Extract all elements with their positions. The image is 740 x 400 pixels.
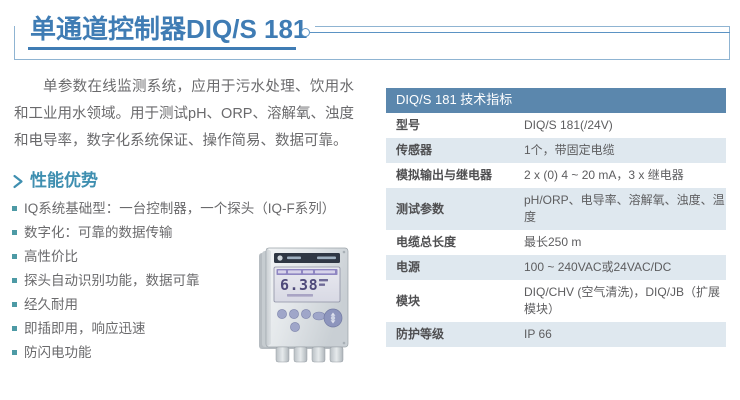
list-item: IQ系统基础型：一台控制器，一个探头（IQ-F系列） [12, 197, 372, 221]
svg-text:6.38: 6.38 [280, 276, 318, 294]
spec-key: 防护等级 [386, 322, 514, 347]
title-underline [28, 47, 296, 50]
list-item-label: 防闪电功能 [24, 341, 92, 365]
spec-value: DIQ/S 181(/24V) [514, 113, 726, 138]
spec-value: pH/ORP、电导率、溶解氧、浊度、温度 [514, 188, 726, 230]
spec-value: 2 x (0) 4 ~ 20 mA，3 x 继电器 [514, 163, 726, 188]
table-row: 电源 100 ~ 240VAC或24VAC/DC [386, 255, 726, 280]
list-item-label: 经久耐用 [24, 293, 78, 317]
bullet-square-icon [12, 278, 17, 283]
title-circle-marker-icon [301, 28, 310, 37]
spec-key: 传感器 [386, 138, 514, 163]
bullet-square-icon [12, 254, 17, 259]
bullet-square-icon [12, 302, 17, 307]
page-header: 单通道控制器DIQ/S 181 [0, 0, 740, 72]
list-item-label: IQ系统基础型：一台控制器，一个探头（IQ-F系列） [24, 197, 335, 221]
page-title: 单通道控制器DIQ/S 181 [30, 13, 307, 45]
table-row: 模块 DIQ/CHV (空气清洗)，DIQ/JB（扩展模块） [386, 280, 726, 322]
benefits-heading-label: 性能优势 [30, 171, 98, 191]
chevron-right-icon [12, 174, 25, 189]
table-row: 型号 DIQ/S 181(/24V) [386, 113, 726, 138]
table-row: 防护等级 IP 66 [386, 322, 726, 347]
list-item-label: 高性价比 [24, 245, 78, 269]
spec-key: 电缆总长度 [386, 230, 514, 255]
spec-table-caption: DIQ/S 181 技术指标 [386, 88, 726, 113]
table-row: 电缆总长度 最长250 m [386, 230, 726, 255]
list-item-label: 即插即用，响应迅速 [24, 317, 146, 341]
spec-value: IP 66 [514, 322, 726, 347]
benefits-heading: 性能优势 [12, 171, 372, 191]
table-row: 传感器 1个，带固定电缆 [386, 138, 726, 163]
spec-value: DIQ/CHV (空气清洗)，DIQ/JB（扩展模块） [514, 280, 726, 322]
spec-table: DIQ/S 181 技术指标 型号 DIQ/S 181(/24V) 传感器 1个… [386, 88, 726, 347]
spec-value: 1个，带固定电缆 [514, 138, 726, 163]
spec-key: 型号 [386, 113, 514, 138]
list-item-label: 探头自动识别功能，数据可靠 [24, 269, 200, 293]
spec-key: 测试参数 [386, 188, 514, 230]
spec-value: 最长250 m [514, 230, 726, 255]
bullet-square-icon [12, 326, 17, 331]
bullet-square-icon [12, 350, 17, 355]
spec-key: 电源 [386, 255, 514, 280]
table-row: 测试参数 pH/ORP、电导率、溶解氧、浊度、温度 [386, 188, 726, 230]
table-row: 模拟输出与继电器 2 x (0) 4 ~ 20 mA，3 x 继电器 [386, 163, 726, 188]
list-item-label: 数字化：可靠的数据传输 [24, 221, 173, 245]
spec-value: 100 ~ 240VAC或24VAC/DC [514, 255, 726, 280]
spec-key: 模拟输出与继电器 [386, 163, 514, 188]
intro-paragraph: 单参数在线监测系统，应用于污水处理、饮用水和工业用水领域。用于测试pH、ORP、… [0, 74, 372, 155]
title-connector-line [310, 32, 730, 33]
product-image: 6.38 [247, 238, 365, 370]
bullet-square-icon [12, 206, 17, 211]
bullet-square-icon [12, 230, 17, 235]
spec-key: 模块 [386, 280, 514, 322]
spec-table-container: DIQ/S 181 技术指标 型号 DIQ/S 181(/24V) 传感器 1个… [386, 88, 726, 347]
